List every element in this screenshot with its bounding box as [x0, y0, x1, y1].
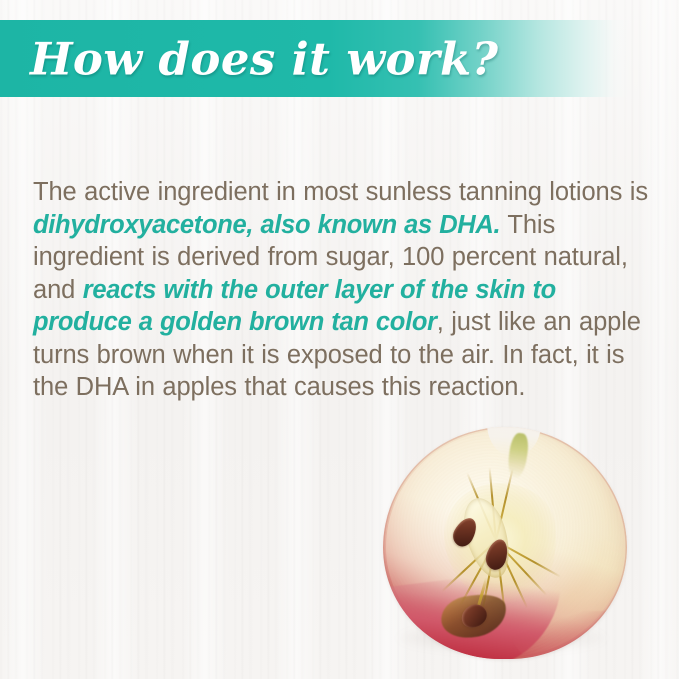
body-text-segment-1: The active ingredient in most sunless ta… [33, 178, 648, 206]
apple-body [383, 427, 627, 659]
body-emphasis-dha: dihydroxyacetone, also known as DHA. [33, 211, 500, 239]
body-paragraph: The active ingredient in most sunless ta… [33, 176, 651, 404]
header-banner: How does it work? [0, 20, 633, 97]
apple-illustration [383, 427, 627, 667]
page-title: How does it work? [30, 36, 498, 81]
infographic-page: How does it work? The active ingredient … [0, 0, 679, 679]
